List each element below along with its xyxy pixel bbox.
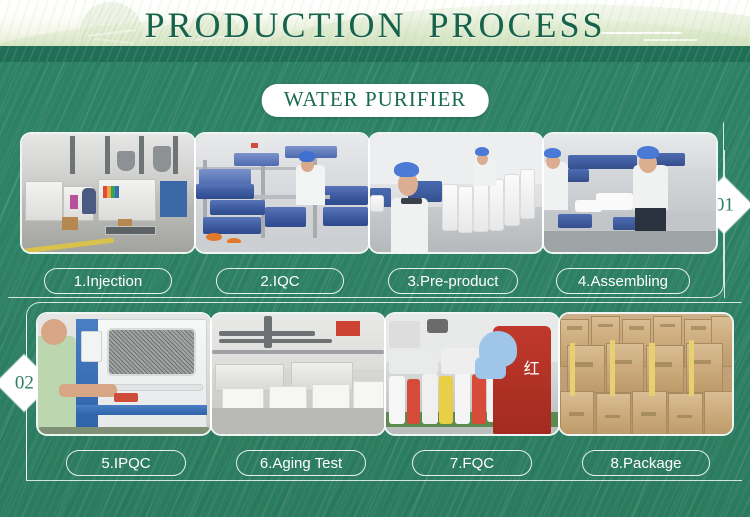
step-photo-ipqc [38, 314, 210, 434]
header-bottom-rule [0, 46, 750, 62]
step-photo-iqc [196, 134, 368, 252]
step-photo-fqc: 红 [386, 314, 558, 434]
poster-header: PRODUCTION PROCESS [0, 0, 750, 62]
step-caption-fqc: 7.FQC [412, 450, 532, 476]
step-photo-package [560, 314, 732, 434]
row-2-number-label: 02 [14, 372, 33, 394]
step-photo-injection [22, 134, 194, 252]
step-caption-pre-product: 3.Pre-product [388, 268, 518, 294]
step-photo-assembling [544, 134, 716, 252]
step-caption-assembling: 4.Assembling [556, 268, 690, 294]
step-caption-injection: 1.Injection [44, 268, 172, 294]
step-caption-iqc: 2.IQC [216, 268, 344, 294]
step-caption-ipqc: 5.IPQC [66, 450, 186, 476]
row-2-frame-bottom-rule [26, 480, 742, 481]
step-photo-pre-product [370, 134, 542, 252]
production-process-poster: PRODUCTION PROCESS WATER PURIFIER 01 [0, 0, 750, 517]
badge-line-bottom [724, 224, 725, 298]
step-photo-aging-test [212, 314, 384, 434]
step-caption-aging-test: 6.Aging Test [236, 450, 366, 476]
page-title: PRODUCTION PROCESS [0, 4, 750, 46]
step-caption-package: 8.Package [582, 450, 710, 476]
subtitle-badge: WATER PURIFIER [262, 84, 489, 117]
row-1-number-label: 01 [715, 194, 734, 216]
badge-line-bottom-2 [26, 402, 27, 480]
